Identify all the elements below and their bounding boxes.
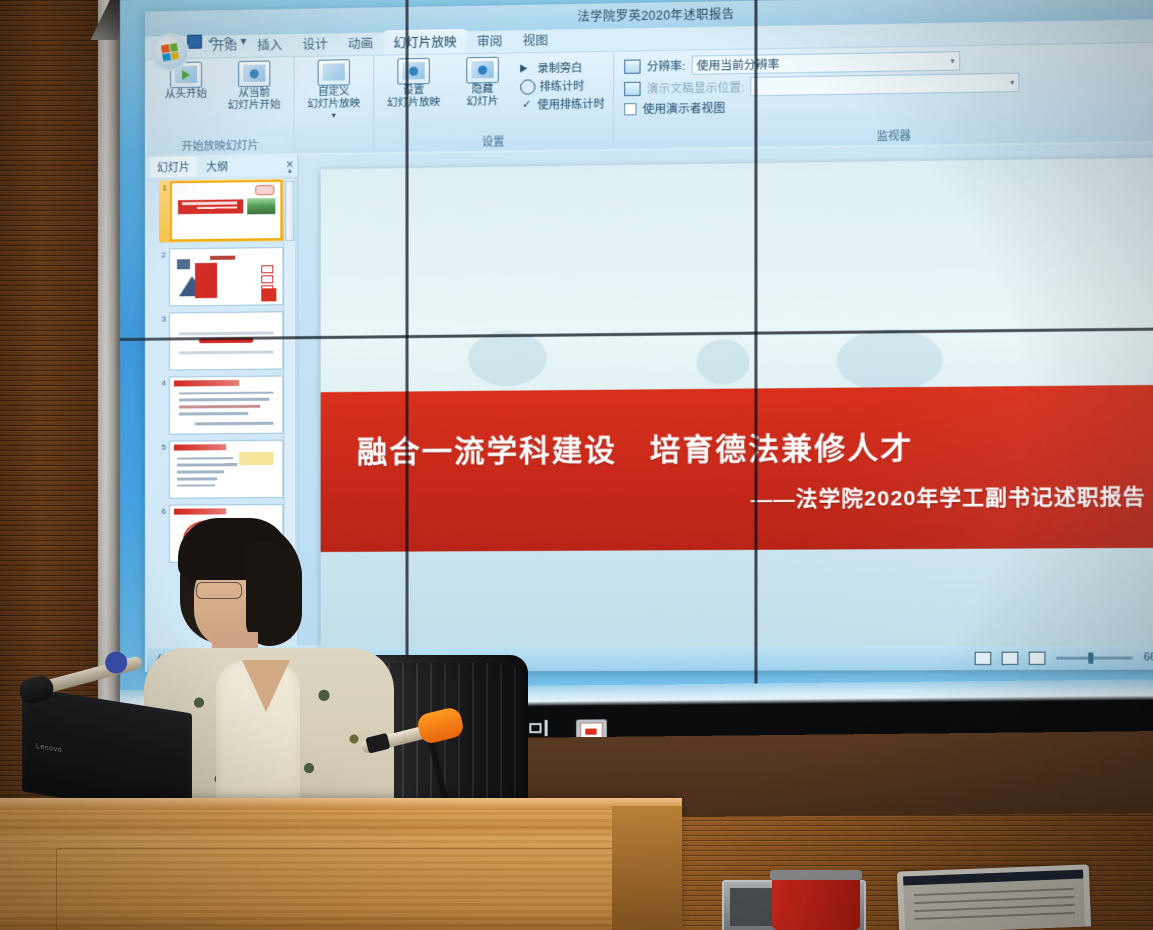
resolution-dropdown[interactable]: 使用当前分辨率 ▾ <box>691 51 959 75</box>
thumbnail-canvas <box>169 376 283 435</box>
setup-slideshow-button[interactable]: 设置 幻灯片放映 <box>382 58 445 110</box>
slideshow-view-icon[interactable] <box>1029 651 1046 664</box>
podium-front-panel <box>56 848 618 930</box>
custom-slideshow-label: 自定义 幻灯片放映 <box>307 86 360 110</box>
thumbnail-canvas <box>169 311 283 370</box>
thumbnail-canvas <box>169 247 283 306</box>
slide-number: 3 <box>159 313 166 324</box>
podium-side-panel <box>612 806 682 930</box>
tab-outline[interactable]: 大纲 <box>199 156 235 177</box>
quick-access-toolbar[interactable]: ↶ ↷ ▾ <box>187 34 246 49</box>
undo-icon[interactable]: ↶ <box>208 34 218 48</box>
slide-title: 融合一流学科建设 培育德法兼修人才 <box>321 421 1153 472</box>
glasses <box>196 582 242 599</box>
resolution-value: 使用当前分辨率 <box>697 53 951 73</box>
secondary-laptop <box>897 864 1091 930</box>
group-label-start-show: 开始放映幻灯片 <box>147 136 293 154</box>
show-presentation-on-label: 演示文稿显示位置: <box>647 79 745 97</box>
ribbon-group-monitors: 分辨率: 使用当前分辨率 ▾ 演示文稿显示位置: ▾ <box>613 42 1153 148</box>
slide-subtitle: ——法学院2020年学工副书记述职报告 <box>321 480 1153 516</box>
slide-edit-pane[interactable]: 融合一流学科建设 培育德法兼修人才 ——法学院2020年学工副书记述职报告 <box>298 143 1153 646</box>
rehearse-timings-button[interactable]: 排练计时 <box>520 77 605 95</box>
office-logo-icon <box>161 43 179 61</box>
use-rehearsed-timings-checkbox[interactable]: ✓ 使用排练计时 <box>520 95 605 112</box>
record-narration-icon <box>520 62 533 75</box>
qat-more-icon[interactable]: ▾ <box>240 34 246 48</box>
tab-view[interactable]: 视图 <box>514 27 558 52</box>
slide-thumbnail-5[interactable]: 5 <box>159 440 283 499</box>
scroll-up-icon[interactable]: ▲ <box>284 168 295 175</box>
rehearse-timings-label: 排练计时 <box>539 78 584 95</box>
slide-number: 6 <box>159 505 166 516</box>
ribbon: 从头开始 从当前 幻灯片开始 开始放映幻灯片 自定义 幻灯片放映 <box>147 41 1153 155</box>
rehearse-timings-icon <box>520 79 535 94</box>
setup-slideshow-label: 设置 幻灯片放映 <box>387 85 440 109</box>
slide-thumbnail-1[interactable]: 1 <box>159 179 283 243</box>
ribbon-group-setup: 设置 幻灯片放映 隐藏 幻灯片 录制旁白 <box>373 52 613 153</box>
record-narration-button[interactable]: 录制旁白 <box>520 59 605 77</box>
podium-top-edge <box>0 798 682 810</box>
check-icon: ✓ <box>520 98 533 111</box>
tab-animation[interactable]: 动画 <box>339 30 382 55</box>
save-icon[interactable] <box>187 35 202 49</box>
setup-small-buttons: 录制旁白 排练计时 ✓ 使用排练计时 <box>520 55 605 113</box>
zoom-level: 66% <box>1144 651 1153 663</box>
redo-icon[interactable]: ↷ <box>224 34 234 48</box>
hide-slide-button[interactable]: 隐藏 幻灯片 <box>451 56 514 108</box>
normal-view-icon[interactable] <box>975 651 992 664</box>
slide-number: 5 <box>159 441 166 452</box>
slide-number: 1 <box>160 181 167 192</box>
presenter-view-label: 使用演示者视图 <box>643 100 726 117</box>
window-title: 法学院罗英2020年述职报告 <box>577 5 734 25</box>
slide-title-banner: 融合一流学科建设 培育德法兼修人才 ——法学院2020年学工副书记述职报告 <box>321 385 1153 552</box>
resolution-label: 分辨率: <box>647 57 686 74</box>
tab-insert[interactable]: 插入 <box>248 32 291 57</box>
custom-slideshow-button[interactable]: 自定义 幻灯片放映 ▾ <box>303 59 366 121</box>
zoom-slider[interactable] <box>1056 656 1133 659</box>
slide-sorter-icon[interactable] <box>1002 651 1019 664</box>
chevron-down-icon[interactable]: ▾ <box>332 111 336 120</box>
slide-number: 2 <box>159 248 166 259</box>
hide-slide-label: 隐藏 幻灯片 <box>467 84 499 108</box>
ribbon-group-custom-show: 自定义 幻灯片放映 ▾ <box>293 56 373 154</box>
tab-design[interactable]: 设计 <box>293 31 336 56</box>
group-label-setup: 设置 <box>374 132 613 152</box>
slide-thumbnail-3[interactable]: 3 <box>159 311 283 370</box>
slideshow-current-icon <box>238 61 270 88</box>
custom-show-icon <box>318 59 350 86</box>
from-current-slide-button[interactable]: 从当前 幻灯片开始 <box>223 60 285 112</box>
hide-slide-icon <box>466 57 499 84</box>
record-narration-label: 录制旁白 <box>537 59 582 76</box>
show-on-icon <box>624 81 640 95</box>
from-current-slide-label: 从当前 幻灯片开始 <box>228 87 281 111</box>
screenshot-root: 法学院罗英2020年述职报告 ↶ ↷ ▾ 开始 插入 设计 动画 幻灯片放映 审… <box>0 0 1153 930</box>
thumbnail-canvas <box>170 180 282 242</box>
ribbon-group-start-show: 从头开始 从当前 幻灯片开始 开始放映幻灯片 <box>147 57 293 155</box>
use-rehearsed-timings-label: 使用排练计时 <box>537 95 604 112</box>
scrollbar-thumb[interactable] <box>285 181 294 241</box>
chevron-down-icon[interactable]: ▾ <box>1010 78 1014 87</box>
status-bar-right: 66% <box>975 651 1153 665</box>
slide-pane-tabs[interactable]: 幻灯片 大纲 × <box>147 155 298 177</box>
show-presentation-on-dropdown[interactable]: ▾ <box>751 73 1020 97</box>
show-presentation-on-value <box>756 83 1011 87</box>
slide-thumbnail-4[interactable]: 4 <box>159 376 283 435</box>
hair-side <box>246 542 302 646</box>
resolution-icon <box>624 59 640 73</box>
current-slide[interactable]: 融合一流学科建设 培育德法兼修人才 ——法学院2020年学工副书记述职报告 <box>321 157 1153 653</box>
checkbox-icon[interactable] <box>624 103 636 115</box>
slide-number: 4 <box>159 377 166 388</box>
tab-review[interactable]: 审阅 <box>468 28 512 53</box>
setup-show-icon <box>397 58 429 85</box>
chevron-down-icon[interactable]: ▾ <box>950 56 954 65</box>
red-cup <box>772 876 860 930</box>
tab-slideshow[interactable]: 幻灯片放映 <box>384 29 466 55</box>
tab-slides[interactable]: 幻灯片 <box>150 157 197 178</box>
vest-neckline <box>242 660 290 712</box>
thumbnail-canvas <box>169 440 283 499</box>
slide-thumbnail-2[interactable]: 2 <box>159 247 283 307</box>
